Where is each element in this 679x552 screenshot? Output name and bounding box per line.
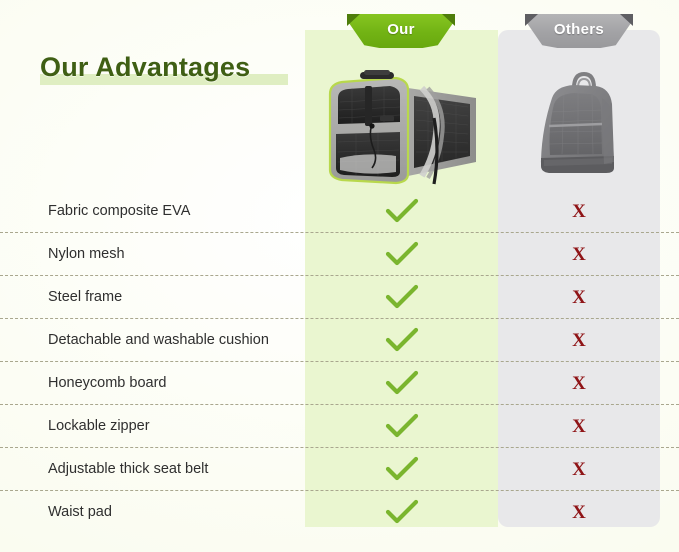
cell-others: X: [498, 405, 660, 447]
table-row: Detachable and washable cushionX: [0, 319, 679, 362]
cell-our: [305, 405, 498, 447]
check-icon: [385, 499, 419, 525]
x-icon: X: [572, 288, 586, 307]
check-icon: [385, 370, 419, 396]
cell-our: [305, 233, 498, 275]
page-title: Our Advantages: [40, 52, 250, 83]
feature-label: Lockable zipper: [48, 405, 150, 447]
cell-others: X: [498, 276, 660, 318]
cell-others: X: [498, 491, 660, 533]
column-header-our-label: Our: [387, 21, 415, 38]
product-image-our: [316, 58, 488, 188]
cell-our: [305, 319, 498, 361]
table-row: Adjustable thick seat beltX: [0, 448, 679, 491]
x-icon: X: [572, 460, 586, 479]
feature-label: Adjustable thick seat belt: [48, 448, 208, 490]
table-row: Nylon meshX: [0, 233, 679, 276]
product-image-others: [522, 58, 644, 186]
cell-our: [305, 276, 498, 318]
feature-label: Detachable and washable cushion: [48, 319, 269, 361]
check-icon: [385, 456, 419, 482]
feature-label: Waist pad: [48, 491, 112, 533]
x-icon: X: [572, 331, 586, 350]
x-icon: X: [572, 202, 586, 221]
cell-others: X: [498, 448, 660, 490]
feature-table: Fabric composite EVAXNylon meshXSteel fr…: [0, 190, 679, 533]
feature-label: Nylon mesh: [48, 233, 125, 275]
check-icon: [385, 284, 419, 310]
table-row: Steel frameX: [0, 276, 679, 319]
check-icon: [385, 327, 419, 353]
x-icon: X: [572, 503, 586, 522]
x-icon: X: [572, 374, 586, 393]
table-row: Waist padX: [0, 491, 679, 533]
cell-our: [305, 190, 498, 232]
cell-others: X: [498, 362, 660, 404]
cell-our: [305, 362, 498, 404]
feature-label: Honeycomb board: [48, 362, 167, 404]
cell-others: X: [498, 190, 660, 232]
page-title-group: Our Advantages: [40, 52, 250, 92]
cell-others: X: [498, 319, 660, 361]
column-header-others: Others: [525, 14, 633, 48]
table-row: Honeycomb boardX: [0, 362, 679, 405]
check-icon: [385, 198, 419, 224]
cell-others: X: [498, 233, 660, 275]
comparison-chart: Our Advantages Our Others: [0, 0, 679, 552]
column-header-our: Our: [347, 14, 455, 48]
column-header-others-label: Others: [554, 21, 604, 38]
table-row: Lockable zipperX: [0, 405, 679, 448]
x-icon: X: [572, 417, 586, 436]
feature-label: Steel frame: [48, 276, 122, 318]
cell-our: [305, 448, 498, 490]
feature-label: Fabric composite EVA: [48, 190, 190, 232]
table-row: Fabric composite EVAX: [0, 190, 679, 233]
cell-our: [305, 491, 498, 533]
check-icon: [385, 413, 419, 439]
x-icon: X: [572, 245, 586, 264]
check-icon: [385, 241, 419, 267]
